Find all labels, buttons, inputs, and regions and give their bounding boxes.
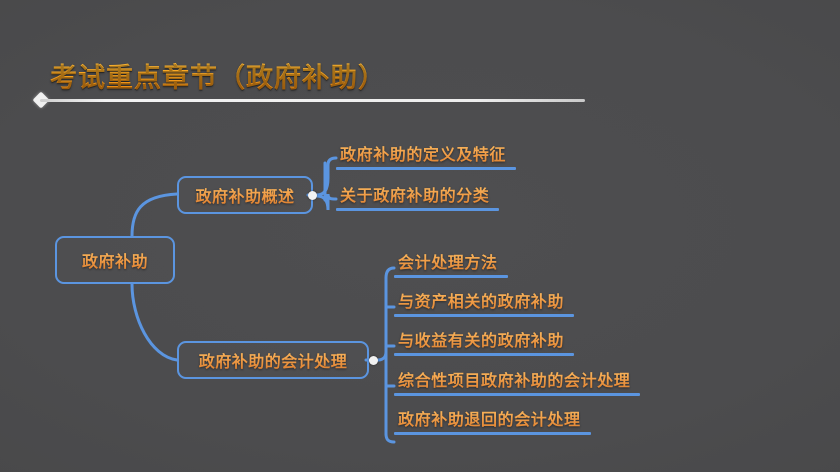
connector-junction-b-spine [378,352,386,360]
mindmap-leaf-underline [336,167,516,170]
connector-root-to-branch-2 [132,284,177,360]
title-underline-rule [40,99,585,102]
mindmap-leaf-item[interactable]: 综合性项目政府补助的会计处理 [394,367,640,396]
mindmap-leaf-underline [394,275,508,278]
mindmap-leaf-item[interactable]: 政府补助退回的会计处理 [394,406,591,435]
mindmap-node-root[interactable]: 政府补助 [55,236,175,284]
spine-b-bottom-cap [386,434,394,442]
mindmap-leaf-label: 政府补助退回的会计处理 [394,406,591,432]
mindmap-leaf-underline [394,393,640,396]
mindmap-leaf-label: 政府补助的定义及特征 [336,141,516,167]
connector-root-to-branch-1 [132,194,177,236]
mindmap-leaf-label: 与资产相关的政府补助 [394,288,574,314]
mindmap-node-branch-2-label: 政府补助的会计处理 [199,348,348,372]
connector-junction-a-leaf-1 [317,194,336,210]
mindmap-leaf-label: 会计处理方法 [394,249,508,275]
title-block: 考试重点章节（政府补助） [0,0,840,120]
mindmap-node-root-label: 政府补助 [82,248,148,272]
mindmap-leaf-label: 与收益有关的政府补助 [394,327,574,353]
mindmap-leaf-item[interactable]: 政府补助的定义及特征 [336,141,516,170]
mindmap-node-branch-1[interactable]: 政府补助概述 [177,176,313,214]
mindmap-leaf-underline [394,314,574,317]
page-title: 考试重点章节（政府补助） [50,56,386,95]
mindmap-leaf-item[interactable]: 与资产相关的政府补助 [394,288,574,317]
mindmap-leaf-underline [394,353,574,356]
mindmap-leaf-item[interactable]: 与收益有关的政府补助 [394,327,574,356]
mindmap-leaf-underline [336,208,499,211]
slide-canvas: 考试重点章节（政府补助） [0,0,840,472]
junction-dot-branch-1 [308,191,317,200]
junction-dot-branch-2 [369,356,378,365]
mindmap-node-branch-1-label: 政府补助概述 [195,183,294,207]
mindmap-leaf-item[interactable]: 关于政府补助的分类 [336,182,499,211]
mindmap-node-branch-2[interactable]: 政府补助的会计处理 [177,341,369,379]
mindmap-leaf-underline [394,432,591,435]
mindmap-leaf-label: 关于政府补助的分类 [336,182,499,208]
mindmap-leaf-label: 综合性项目政府补助的会计处理 [394,367,640,393]
connector-junction-a-leaf-0 [317,158,336,195]
spine-b-top-cap [386,268,394,278]
mindmap-leaf-item[interactable]: 会计处理方法 [394,249,508,278]
